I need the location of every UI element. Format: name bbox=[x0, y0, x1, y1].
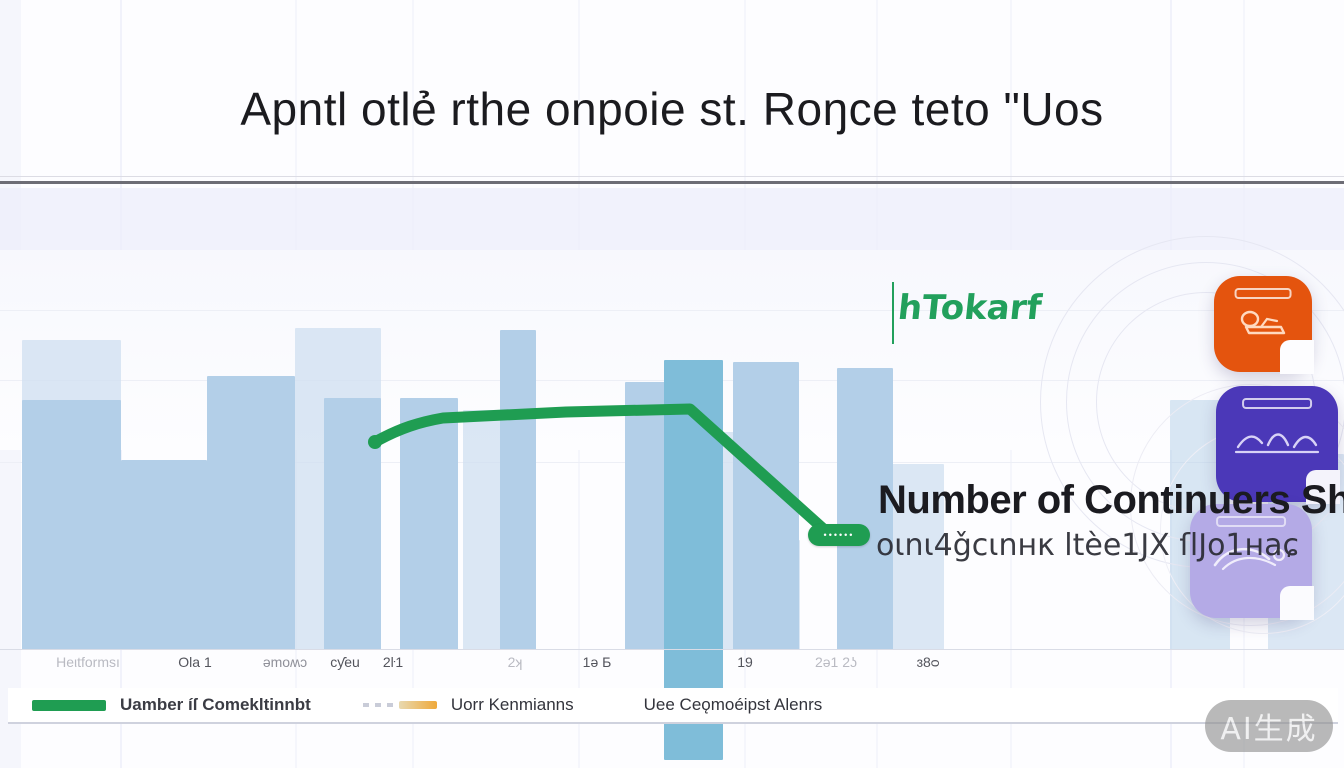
legend-label: Uorr Kenmianns bbox=[451, 695, 574, 715]
legend-label: Ueе Ceǫmoéipst Alenrs bbox=[644, 695, 823, 715]
legend-swatch-dashed-orange bbox=[363, 698, 437, 712]
x-tick: cƴeu bbox=[330, 654, 360, 670]
watermark-text: AI生成 bbox=[1220, 704, 1317, 748]
chip-glyph-icon bbox=[1216, 425, 1338, 464]
title-divider bbox=[0, 181, 1344, 184]
chart-canvas: Apntl otlẻ rthe onpoie st. Roŋce teto "U… bbox=[0, 0, 1344, 768]
page-title: Apntl otlẻ rthe onpoie st. Roŋce teto "U… bbox=[0, 82, 1344, 136]
x-tick: 2ʞ bbox=[508, 654, 523, 670]
chip-handle-icon bbox=[1235, 288, 1292, 299]
data-point-badge[interactable]: •••••• bbox=[808, 524, 870, 546]
legend-item[interactable]: Uamber íſ Comekltinnbt bbox=[32, 695, 311, 715]
x-tick: 2ǝ1 2ʖ bbox=[815, 654, 857, 670]
legend-label: Uamber íſ Comekltinnbt bbox=[120, 695, 311, 715]
chart-legend: Uamber íſ Comekltinnbt Uorr Kenmianns Ue… bbox=[8, 688, 1338, 724]
x-tick: 2ŀ1 bbox=[383, 654, 403, 670]
x-tick: Ola 1 bbox=[178, 654, 211, 670]
container-chip-orange-icon bbox=[1214, 276, 1312, 372]
chip-handle-icon bbox=[1242, 398, 1312, 409]
overlay-title: Number of Continuers Sharr bbox=[878, 478, 1344, 523]
x-tick: Heιtformsı bbox=[56, 654, 120, 670]
x-tick: 1ǝ Б bbox=[583, 654, 612, 670]
x-tick: ǝmoʍɔ bbox=[263, 654, 307, 670]
cargo-glyph-icon bbox=[1234, 425, 1320, 459]
x-tick: ɜ8ᴑ bbox=[917, 654, 940, 670]
title-rule-soft bbox=[0, 176, 1344, 177]
chip-glyph-icon bbox=[1214, 309, 1312, 344]
overlay-subtitle: oιnι4ǧcιnʜκ ltèe1JX ſlJo1ʜaɕ bbox=[876, 528, 1299, 563]
ship-glyph-icon bbox=[1237, 309, 1289, 339]
handwritten-annotation: hTokarf bbox=[896, 288, 1044, 328]
chip-notch bbox=[1280, 586, 1314, 620]
annotation-stroke bbox=[892, 282, 894, 344]
chip-notch bbox=[1280, 340, 1314, 374]
legend-swatch-green-line bbox=[32, 698, 106, 712]
legend-item[interactable]: Uorr Kenmianns bbox=[363, 695, 574, 715]
x-tick: 19 bbox=[737, 654, 753, 670]
legend-item[interactable]: Ueе Ceǫmoéipst Alenrs bbox=[644, 695, 823, 715]
ai-watermark: AI生成 bbox=[1205, 700, 1333, 752]
